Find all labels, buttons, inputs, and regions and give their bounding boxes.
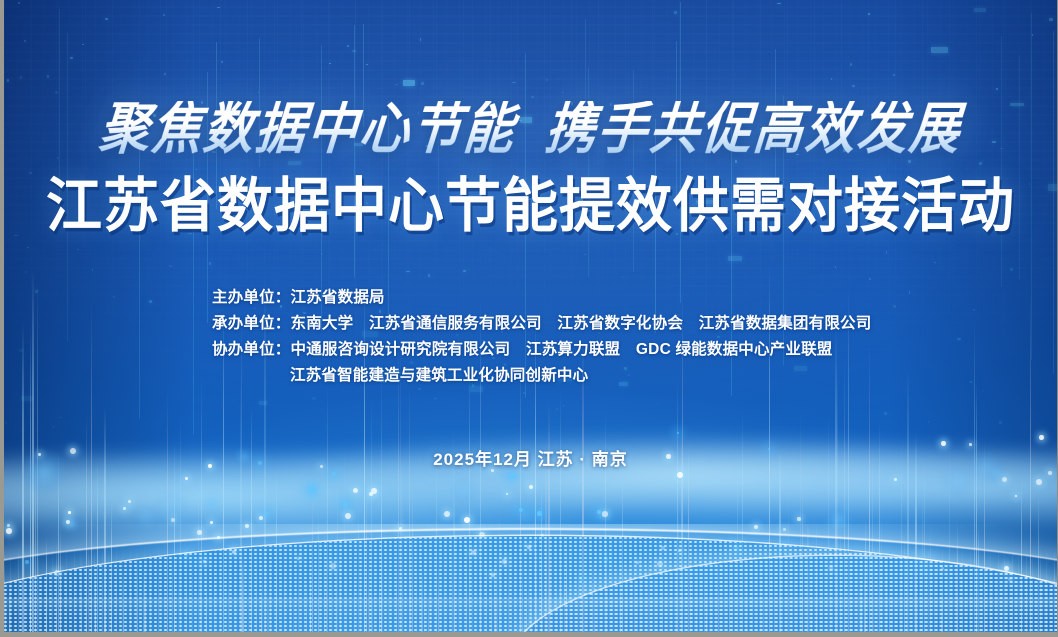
organizer-label: 承办单位： [212,315,291,332]
organizer-row: 承办单位：东南大学 江苏省通信服务有限公司 江苏省数字化协会 江苏省数据集团有限… [212,311,871,337]
organizer-row: 主办单位：江苏省数据局 [212,285,871,311]
organizer-value: 江苏省智能建造与建筑工业化协同创新中心 [290,367,588,384]
event-poster: 聚焦数据中心节能携手共促高效发展 江苏省数据中心节能提效供需对接活动 主办单位：… [0,0,1058,637]
organizer-value: 江苏省数据局 [291,289,385,306]
organizer-label: 主办单位： [212,289,291,306]
poster-slogan: 聚焦数据中心节能携手共促高效发展 [2,101,1058,157]
organizer-label: 协办单位： [212,341,291,358]
organizer-value: 中通服咨询设计研究院有限公司 江苏算力联盟 GDC 绿能数据中心产业联盟 [291,341,833,358]
organizer-row: 江苏省智能建造与建筑工业化协同创新中心 [212,363,871,389]
slogan-part-2: 携手共促高效发展 [543,97,965,162]
slogan-part-1: 聚焦数据中心节能 [97,97,519,162]
organizer-list: 主办单位：江苏省数据局 承办单位：东南大学 江苏省通信服务有限公司 江苏省数字化… [212,285,871,389]
poster-content: 聚焦数据中心节能携手共促高效发展 江苏省数据中心节能提效供需对接活动 主办单位：… [4,0,1057,632]
organizer-value: 东南大学 江苏省通信服务有限公司 江苏省数字化协会 江苏省数据集团有限公司 [291,315,872,332]
organizer-row: 协办单位：中通服咨询设计研究院有限公司 江苏算力联盟 GDC 绿能数据中心产业联… [212,337,871,363]
poster-main-title: 江苏省数据中心节能提效供需对接活动 [4,176,1057,237]
event-date-location: 2025年12月 江苏 · 南京 [4,445,1057,470]
